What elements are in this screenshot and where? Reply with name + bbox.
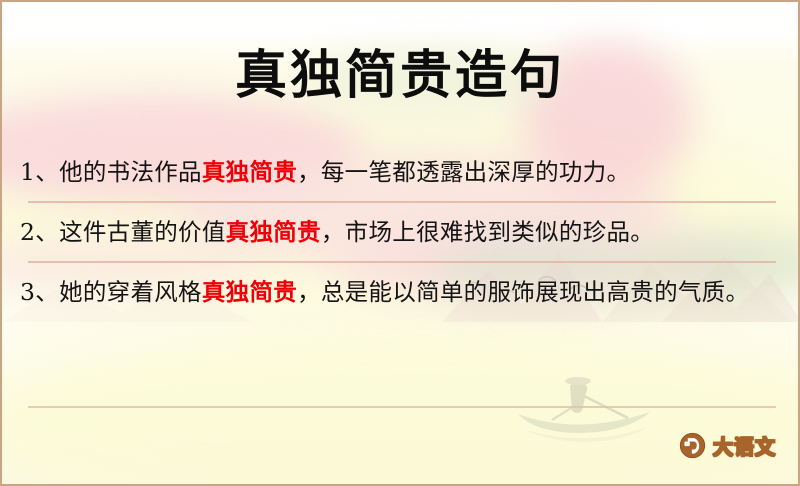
idiom-highlight: 真独简贵 [202,158,297,186]
divider-3 [28,406,776,408]
brand-logo: 大语文 [679,431,776,460]
item-number: 2、 [20,218,59,246]
sentence-suffix: ，每一笔都透露出深厚的功力。 [297,158,630,186]
sentence-3: 3、她的穿着风格真独简贵，总是能以简单的服饰展现出高贵的气质。 [20,272,782,312]
slide-canvas: 真独简贵造句 1、他的书法作品真独简贵，每一笔都透露出深厚的功力。 2、这件古董… [0,0,800,486]
sentence-prefix: 这件古董的价值 [59,218,226,246]
item-number: 1、 [20,158,59,186]
sentence-prefix: 她的穿着风格 [59,278,202,306]
divider-1 [28,201,776,203]
sentence-prefix: 他的书法作品 [59,158,202,186]
sentence-1: 1、他的书法作品真独简贵，每一笔都透露出深厚的功力。 [20,152,782,192]
circle-seal-icon [679,432,706,459]
list-item: 3、她的穿着风格真独简贵，总是能以简单的服饰展现出高贵的气质。 [2,272,798,312]
list-item: 2、这件古董的价值真独简贵，市场上很难找到类似的珍品。 [2,212,798,252]
idiom-highlight: 真独简贵 [226,218,321,246]
item-number: 3、 [20,278,59,306]
list-item: 1、他的书法作品真独简贵，每一笔都透露出深厚的功力。 [2,152,798,192]
sentence-2: 2、这件古董的价值真独简贵，市场上很难找到类似的珍品。 [20,212,782,252]
sentence-suffix: ，总是能以简单的服饰展现出高贵的气质。 [297,278,749,306]
idiom-highlight: 真独简贵 [202,278,297,306]
sentence-list: 1、他的书法作品真独简贵，每一笔都透露出深厚的功力。 2、这件古董的价值真独简贵… [2,152,798,312]
brand-name: 大语文 [713,431,776,460]
page-title: 真独简贵造句 [2,50,798,102]
divider-2 [28,261,776,263]
sentence-suffix: ，市场上很难找到类似的珍品。 [321,218,654,246]
boat-fisherman-illustration [492,370,682,448]
